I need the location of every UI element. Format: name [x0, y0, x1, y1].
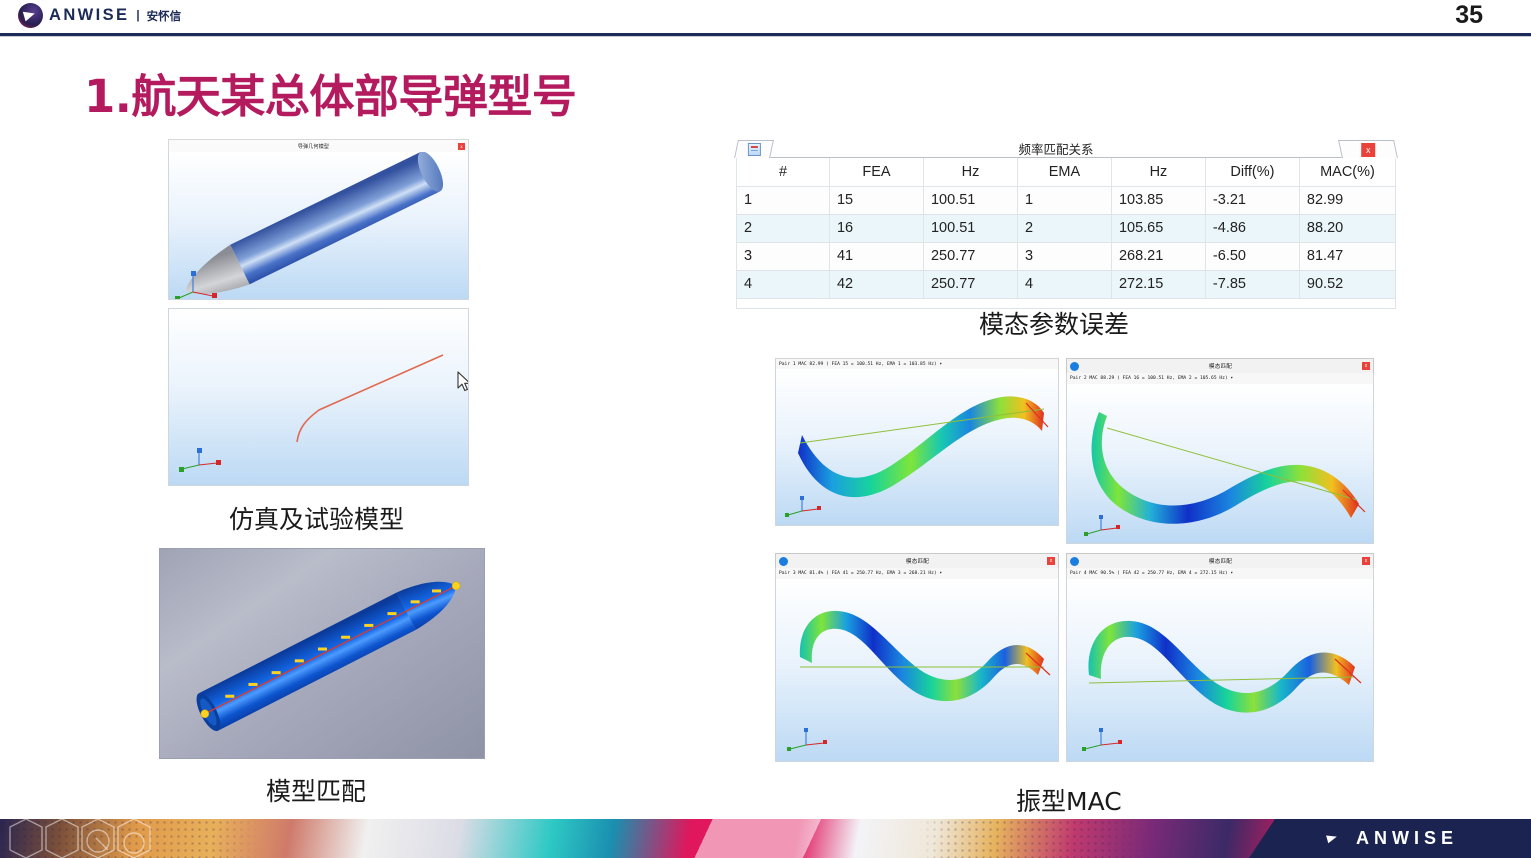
model-match-window [159, 548, 485, 759]
missile-match-3d [160, 549, 484, 758]
cell-index: 3 [737, 242, 830, 270]
mode-shape-4-3d [1067, 579, 1373, 762]
table-row[interactable]: 4 42 250.77 4 272.15 -7.85 90.52 [737, 270, 1396, 298]
footer-brand-name: ANWISE [1356, 828, 1458, 849]
mac-3-subtitle[interactable]: Pair 3 MAC 81.4% ( FEA 41 = 250.77 Hz, E… [775, 568, 1059, 579]
mac-1-canvas[interactable] [775, 369, 1059, 526]
axis-triad-icon [785, 496, 821, 517]
close-icon[interactable]: x [1047, 557, 1055, 565]
mac-window-3: 模态匹配 x Pair 3 MAC 81.4% ( FEA 41 = 250.7… [775, 553, 1059, 762]
col-fea: FEA [829, 158, 923, 186]
brand-divider: | [136, 10, 139, 22]
window-icon [1070, 362, 1079, 371]
col-diff: Diff(%) [1205, 158, 1299, 186]
freq-table-titlebar: 频率匹配关系 x [736, 140, 1396, 158]
freq-match-table: # FEA Hz EMA Hz Diff(%) MAC(%) 1 15 100.… [736, 158, 1396, 299]
page-title: 1.航天某总体部导弹型号 [84, 60, 576, 125]
mac-1-subtitle[interactable]: Pair 1 MAC 82.99 ( FEA 15 = 100.51 Hz, E… [775, 358, 1059, 369]
window-icon [779, 557, 788, 566]
col-fea-hz: Hz [923, 158, 1017, 186]
slide: ANWISE | 安怀信 35 1.航天某总体部导弹型号 导弹几何模型 x [0, 0, 1531, 858]
spreadsheet-icon [747, 143, 760, 156]
cell-index: 2 [737, 214, 830, 242]
window-icon [1070, 557, 1079, 566]
cell-ema-hz: 105.65 [1111, 214, 1205, 242]
caption-sim-test-model: 仿真及试验模型 [229, 500, 404, 536]
mac-2-subtitle[interactable]: Pair 2 MAC 88.29 ( FEA 16 = 100.51 Hz, E… [1066, 373, 1374, 384]
missile-solid-3d [169, 152, 468, 300]
cell-fea-hz: 100.51 [923, 186, 1017, 214]
mac-4-titlebar: 模态匹配 x [1066, 553, 1374, 568]
close-icon[interactable]: x [458, 143, 465, 150]
beam-model-canvas[interactable] [168, 308, 469, 486]
mac-3-title: 模态匹配 [788, 557, 1047, 565]
cell-fea: 15 [829, 186, 923, 214]
cell-ema: 3 [1017, 242, 1111, 270]
top-bar: ANWISE | 安怀信 35 [0, 0, 1531, 33]
cell-ema: 2 [1017, 214, 1111, 242]
cell-fea: 16 [829, 214, 923, 242]
mac-2-title: 模态匹配 [1079, 362, 1362, 370]
cell-fea-hz: 250.77 [923, 270, 1017, 298]
cell-ema-hz: 103.85 [1111, 186, 1205, 214]
brand-name-en: ANWISE [49, 6, 129, 25]
mac-4-canvas[interactable] [1066, 579, 1374, 762]
col-mac: MAC(%) [1299, 158, 1395, 186]
cell-mac: 88.20 [1299, 214, 1395, 242]
beam-line-model-3d [169, 309, 468, 486]
footer-logo: ANWISE [1322, 828, 1458, 850]
mac-2-titlebar: 模态匹配 x [1066, 358, 1374, 373]
cell-diff: -7.85 [1205, 270, 1299, 298]
col-ema: EMA [1017, 158, 1111, 186]
solid-model-titlebar: 导弹几何模型 x [168, 139, 469, 152]
mac-window-2: 模态匹配 x Pair 2 MAC 88.29 ( FEA 16 = 100.5… [1066, 358, 1374, 544]
page-number: 35 [1455, 1, 1483, 30]
footer-brand-panel: ANWISE [1249, 819, 1531, 858]
solid-model-window: 导弹几何模型 x [168, 139, 469, 300]
table-row[interactable]: 3 41 250.77 3 268.21 -6.50 81.47 [737, 242, 1396, 270]
cell-fea-hz: 250.77 [923, 242, 1017, 270]
mode-shape-3-3d [776, 579, 1058, 762]
axis-triad-icon [1084, 515, 1120, 536]
footer-hex-outlines [0, 819, 320, 858]
cell-mac: 81.47 [1299, 242, 1395, 270]
cell-diff: -6.50 [1205, 242, 1299, 270]
spreadsheet-icon-holder [734, 140, 774, 158]
anwise-logo-icon [1322, 828, 1344, 850]
col-ema-hz: Hz [1111, 158, 1205, 186]
cell-fea: 42 [829, 270, 923, 298]
solid-model-canvas[interactable] [168, 152, 469, 300]
mode-shape-1-3d [776, 369, 1058, 526]
mode-shape-2-3d [1067, 384, 1373, 544]
mac-4-title: 模态匹配 [1079, 557, 1362, 565]
col-index: # [737, 158, 830, 186]
cell-fea-hz: 100.51 [923, 214, 1017, 242]
mac-window-4: 模态匹配 x Pair 4 MAC 90.5% ( FEA 42 = 250.7… [1066, 553, 1374, 762]
cell-diff: -3.21 [1205, 186, 1299, 214]
axis-triad-icon [179, 448, 221, 472]
mac-3-titlebar: 模态匹配 x [775, 553, 1059, 568]
mac-3-canvas[interactable] [775, 579, 1059, 762]
close-icon[interactable]: x [1361, 142, 1375, 156]
table-header-row: # FEA Hz EMA Hz Diff(%) MAC(%) [737, 158, 1396, 186]
brand-logo: ANWISE | 安怀信 [18, 3, 181, 28]
cell-index: 4 [737, 270, 830, 298]
beam-model-window [168, 308, 469, 486]
mac-4-subtitle[interactable]: Pair 4 MAC 90.5% ( FEA 42 = 250.77 Hz, E… [1066, 568, 1374, 579]
freq-table-title: 频率匹配关系 [772, 139, 1340, 158]
table-row[interactable]: 1 15 100.51 1 103.85 -3.21 82.99 [737, 186, 1396, 214]
freq-table-window: 频率匹配关系 x # FEA Hz EMA Hz Diff(%) MAC(%) [736, 140, 1396, 309]
anwise-logo-icon [18, 3, 43, 28]
cell-ema-hz: 268.21 [1111, 242, 1205, 270]
mac-window-1: Pair 1 MAC 82.99 ( FEA 15 = 100.51 Hz, E… [775, 358, 1059, 526]
axis-triad-icon [1082, 728, 1122, 751]
footer-bar: ANWISE [0, 819, 1531, 858]
cell-ema-hz: 272.15 [1111, 270, 1205, 298]
close-button-holder: x [1338, 140, 1398, 158]
cell-mac: 82.99 [1299, 186, 1395, 214]
cell-index: 1 [737, 186, 830, 214]
cell-ema: 1 [1017, 186, 1111, 214]
axis-triad-icon [787, 728, 827, 751]
cell-diff: -4.86 [1205, 214, 1299, 242]
mac-2-canvas[interactable] [1066, 384, 1374, 544]
close-icon[interactable]: x [1362, 557, 1370, 565]
cell-mac: 90.52 [1299, 270, 1395, 298]
cell-fea: 41 [829, 242, 923, 270]
model-match-canvas[interactable] [159, 548, 485, 759]
close-icon[interactable]: x [1362, 362, 1370, 370]
brand-name-cn: 安怀信 [147, 8, 182, 24]
caption-model-match: 模型匹配 [266, 772, 366, 808]
cell-ema: 4 [1017, 270, 1111, 298]
table-row[interactable]: 2 16 100.51 2 105.65 -4.86 88.20 [737, 214, 1396, 242]
header-divider [0, 33, 1531, 36]
caption-mode-shape-mac: 振型MAC [1016, 782, 1122, 818]
solid-model-title: 导弹几何模型 [169, 143, 458, 150]
caption-modal-param-error: 模态参数误差 [979, 305, 1129, 341]
